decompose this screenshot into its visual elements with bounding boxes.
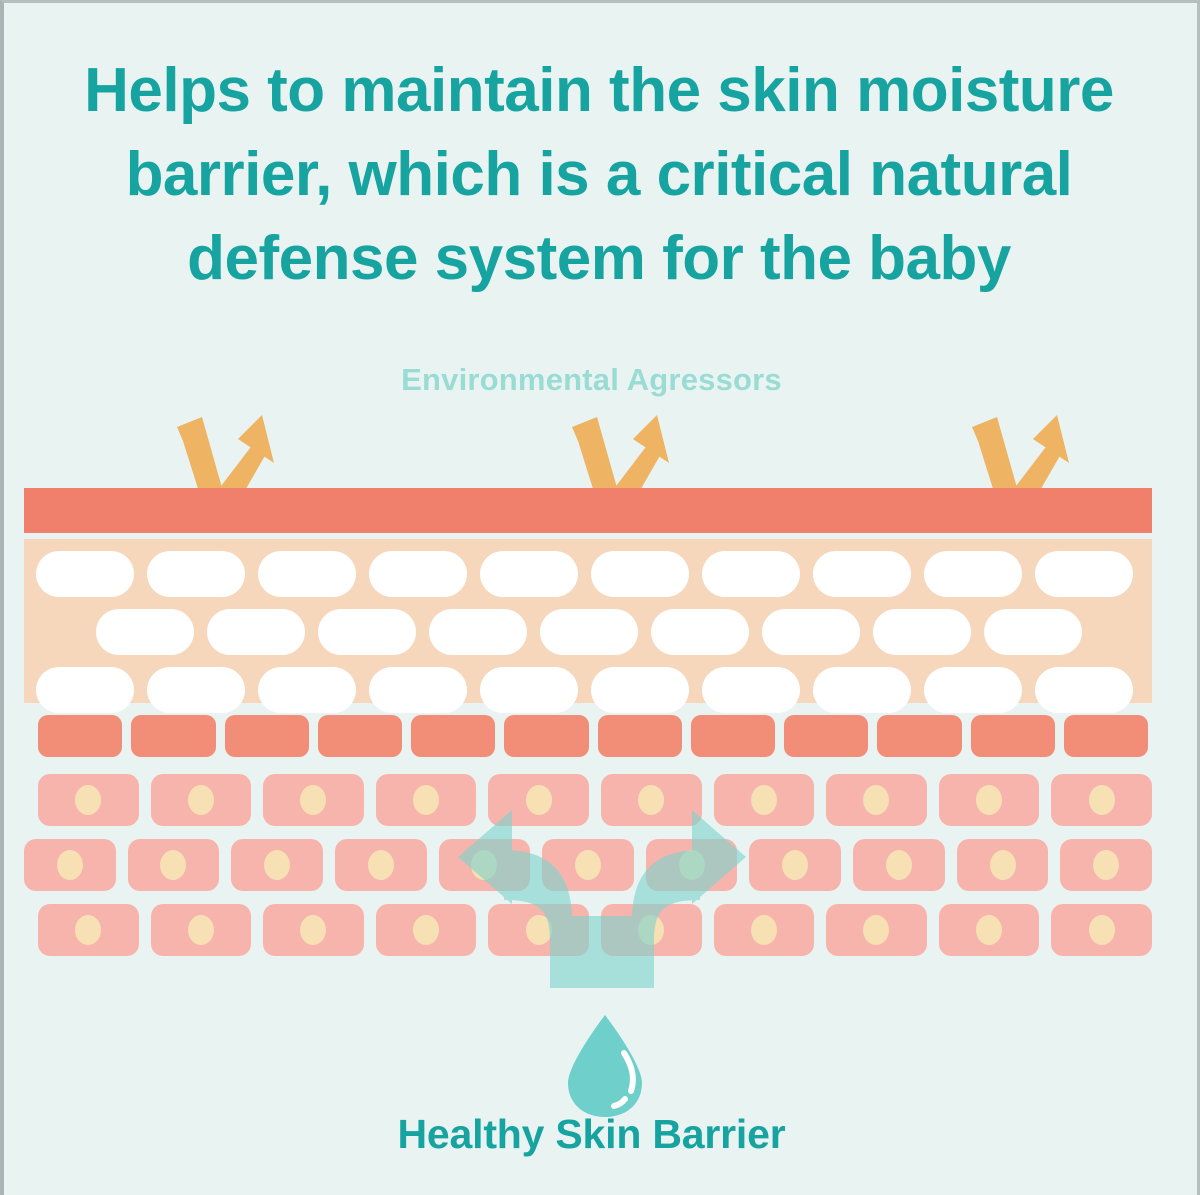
brick bbox=[207, 609, 305, 655]
brick bbox=[591, 551, 689, 597]
skin-cell bbox=[1051, 904, 1152, 956]
brick bbox=[984, 609, 1082, 655]
cell-nucleus bbox=[976, 915, 1002, 945]
brick bbox=[591, 667, 689, 713]
moisture-retention-arrow-icon bbox=[442, 808, 762, 993]
brick bbox=[318, 609, 416, 655]
skin-cell bbox=[957, 839, 1049, 891]
brick bbox=[480, 667, 578, 713]
skin-layer-stratum-corneum bbox=[24, 488, 1152, 533]
brick bbox=[702, 551, 800, 597]
skin-cell bbox=[1051, 774, 1152, 826]
skin-layer-lipid-bricks bbox=[24, 539, 1152, 703]
skin-cell bbox=[439, 839, 531, 891]
brick bbox=[369, 667, 467, 713]
brick bbox=[813, 551, 911, 597]
cell-nucleus bbox=[575, 850, 601, 880]
skin-cell bbox=[488, 774, 589, 826]
basal-block bbox=[411, 715, 495, 757]
healthy-skin-barrier-label: Healthy Skin Barrier bbox=[4, 1111, 1179, 1158]
skin-cell bbox=[749, 839, 841, 891]
brick-row bbox=[96, 609, 1082, 655]
basal-block bbox=[318, 715, 402, 757]
cell-row bbox=[24, 839, 1152, 891]
skin-cell bbox=[826, 904, 927, 956]
skin-cell bbox=[826, 774, 927, 826]
cell-nucleus bbox=[863, 915, 889, 945]
cell-nucleus bbox=[751, 915, 777, 945]
brick bbox=[702, 667, 800, 713]
skin-cell bbox=[376, 904, 477, 956]
brick-row bbox=[36, 667, 1133, 713]
skin-cell bbox=[231, 839, 323, 891]
skin-cell bbox=[151, 774, 252, 826]
skin-cell bbox=[38, 774, 139, 826]
cell-nucleus bbox=[638, 785, 664, 815]
cell-nucleus bbox=[57, 850, 83, 880]
skin-cell bbox=[1060, 839, 1152, 891]
skin-cross-section-diagram bbox=[24, 403, 1152, 963]
basal-block bbox=[131, 715, 215, 757]
skin-cell bbox=[714, 774, 815, 826]
cell-nucleus bbox=[679, 850, 705, 880]
cell-nucleus bbox=[976, 785, 1002, 815]
cell-nucleus bbox=[300, 915, 326, 945]
brick bbox=[651, 609, 749, 655]
skin-cell bbox=[939, 774, 1040, 826]
cell-nucleus bbox=[264, 850, 290, 880]
skin-cell bbox=[24, 839, 116, 891]
basal-block bbox=[225, 715, 309, 757]
cell-nucleus bbox=[1089, 785, 1115, 815]
skin-cell bbox=[376, 774, 477, 826]
brick bbox=[813, 667, 911, 713]
cell-nucleus bbox=[782, 850, 808, 880]
cell-row bbox=[38, 904, 1152, 956]
basal-block bbox=[971, 715, 1055, 757]
skin-cell bbox=[601, 774, 702, 826]
cell-nucleus bbox=[188, 785, 214, 815]
cell-nucleus bbox=[300, 785, 326, 815]
skin-layer-basal-blocks bbox=[38, 715, 1148, 757]
brick bbox=[258, 551, 356, 597]
basal-block bbox=[38, 715, 122, 757]
cell-nucleus bbox=[75, 915, 101, 945]
basal-block bbox=[877, 715, 961, 757]
brick bbox=[873, 609, 971, 655]
cell-nucleus bbox=[751, 785, 777, 815]
cell-row bbox=[38, 774, 1152, 826]
skin-cell bbox=[263, 774, 364, 826]
skin-cell bbox=[714, 904, 815, 956]
infographic-canvas: Helps to maintain the skin moisture barr… bbox=[0, 0, 1200, 1195]
brick bbox=[762, 609, 860, 655]
cell-nucleus bbox=[638, 915, 664, 945]
cell-nucleus bbox=[188, 915, 214, 945]
skin-cell bbox=[335, 839, 427, 891]
skin-cell bbox=[853, 839, 945, 891]
basal-block bbox=[691, 715, 775, 757]
basal-block bbox=[784, 715, 868, 757]
cell-nucleus bbox=[160, 850, 186, 880]
skin-cell bbox=[646, 839, 738, 891]
cell-nucleus bbox=[990, 850, 1016, 880]
page-title: Helps to maintain the skin moisture barr… bbox=[44, 49, 1154, 301]
skin-cell bbox=[151, 904, 252, 956]
brick bbox=[1035, 667, 1133, 713]
skin-cell bbox=[488, 904, 589, 956]
basal-block bbox=[504, 715, 588, 757]
cell-nucleus bbox=[368, 850, 394, 880]
brick-row bbox=[36, 551, 1133, 597]
cell-nucleus bbox=[413, 915, 439, 945]
brick bbox=[36, 667, 134, 713]
skin-cell bbox=[601, 904, 702, 956]
brick bbox=[258, 667, 356, 713]
skin-cell bbox=[542, 839, 634, 891]
cell-nucleus bbox=[471, 850, 497, 880]
cell-nucleus bbox=[526, 785, 552, 815]
brick bbox=[429, 609, 527, 655]
brick bbox=[369, 551, 467, 597]
brick bbox=[480, 551, 578, 597]
brick bbox=[147, 667, 245, 713]
brick bbox=[147, 551, 245, 597]
brick bbox=[96, 609, 194, 655]
skin-cell bbox=[128, 839, 220, 891]
skin-cell bbox=[38, 904, 139, 956]
water-droplet-icon bbox=[560, 1011, 650, 1121]
brick bbox=[540, 609, 638, 655]
skin-cell bbox=[939, 904, 1040, 956]
skin-cell bbox=[263, 904, 364, 956]
basal-block bbox=[1064, 715, 1148, 757]
basal-block bbox=[598, 715, 682, 757]
brick bbox=[924, 551, 1022, 597]
environmental-aggressors-label: Environmental Agressors bbox=[4, 362, 1179, 398]
cell-nucleus bbox=[526, 915, 552, 945]
cell-nucleus bbox=[75, 785, 101, 815]
cell-nucleus bbox=[1089, 915, 1115, 945]
brick bbox=[924, 667, 1022, 713]
infographic-background: Helps to maintain the skin moisture barr… bbox=[4, 3, 1197, 1195]
brick bbox=[1035, 551, 1133, 597]
cell-nucleus bbox=[413, 785, 439, 815]
cell-nucleus bbox=[1093, 850, 1119, 880]
cell-nucleus bbox=[863, 785, 889, 815]
cell-nucleus bbox=[886, 850, 912, 880]
brick bbox=[36, 551, 134, 597]
